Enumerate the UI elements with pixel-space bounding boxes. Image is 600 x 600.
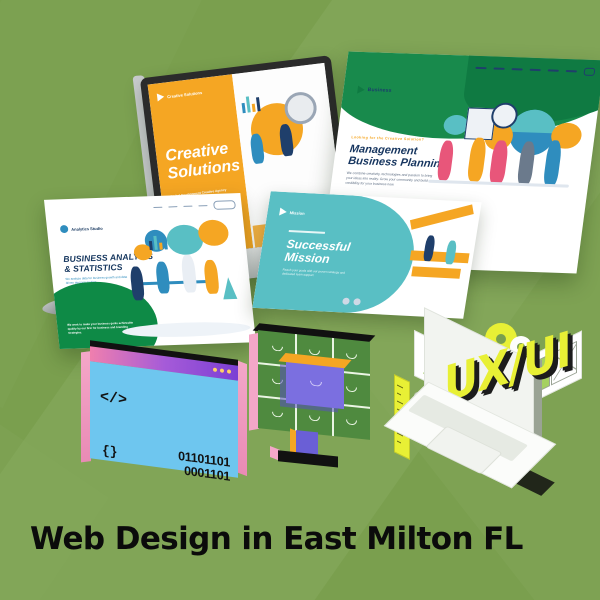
search-icon[interactable] xyxy=(583,68,595,76)
nav-item-services[interactable] xyxy=(511,68,522,70)
business-analysis-green-blob xyxy=(44,280,162,349)
mission-arrow-shape xyxy=(410,204,474,229)
nav-item-home[interactable] xyxy=(153,206,162,208)
drawer-handle[interactable] xyxy=(309,415,320,421)
business-analysis-screen[interactable]: Analytics Studio BUSINESS ANALYSIS & STA… xyxy=(44,193,256,349)
table-surface xyxy=(141,280,211,285)
logo-arrow-icon xyxy=(357,86,365,94)
mission-logo[interactable]: Mission xyxy=(279,208,305,217)
mission-step-bar xyxy=(410,250,470,263)
logo-mark-icon xyxy=(60,225,69,233)
creative-logo: Creative Solutions xyxy=(157,88,203,101)
mission-headline: Successful Mission xyxy=(284,238,352,266)
window-dot-3[interactable] xyxy=(227,369,231,374)
nav-item-contact[interactable] xyxy=(566,70,577,72)
open-drawer[interactable] xyxy=(286,361,344,409)
management-logo-label: Business xyxy=(367,87,392,94)
mission-pagination-dots[interactable] xyxy=(342,298,361,306)
person-figure xyxy=(155,261,170,293)
nav-item-contact[interactable] xyxy=(198,205,207,207)
nav-item-services[interactable] xyxy=(183,205,192,207)
code-window[interactable]: </> {} 01101101 0001101 xyxy=(90,346,238,477)
bar-chart-icon xyxy=(148,235,167,250)
plant-icon xyxy=(221,277,237,299)
management-body: We combine creativity, technologies and … xyxy=(345,171,435,189)
dot-1[interactable] xyxy=(342,298,350,305)
management-logo[interactable]: Business xyxy=(357,86,392,95)
ux-ui-laptop[interactable]: UX/UI xyxy=(392,330,578,490)
creative-logo-label: Creative Solutions xyxy=(167,90,202,99)
code-window-right-edge xyxy=(237,360,247,476)
person-figure xyxy=(180,255,197,293)
management-eyebrow: Looking for the Creative Solution? xyxy=(351,135,424,142)
business-analysis-logo[interactable]: Analytics Studio xyxy=(60,224,103,233)
mission-logo-label: Mission xyxy=(289,210,305,216)
filing-cabinet[interactable] xyxy=(258,330,370,440)
code-window-body: </> {} 01101101 0001101 xyxy=(90,361,238,477)
poster-canvas: Creative Solutions Creative Solutions Di… xyxy=(0,0,600,600)
code-brace-icon: {} xyxy=(102,443,118,460)
successful-mission-screen[interactable]: Mission Successful Mission Reach your go… xyxy=(252,191,481,319)
management-headline: Management Business Planning xyxy=(347,143,449,170)
nav-item-home[interactable] xyxy=(475,67,486,69)
window-dot-1[interactable] xyxy=(213,367,217,372)
mission-step-bar xyxy=(411,266,461,278)
bar-chart-icon xyxy=(241,95,261,113)
drawer-handle[interactable] xyxy=(272,412,283,418)
window-dot-2[interactable] xyxy=(220,368,224,373)
page-title: Web Design in East Milton FL xyxy=(30,521,523,557)
drawer-handle[interactable] xyxy=(272,346,283,352)
nav-item-about[interactable] xyxy=(168,206,177,208)
code-tag-icon: </> xyxy=(100,389,127,410)
drawer-handle[interactable] xyxy=(346,386,357,392)
drawer-handle[interactable] xyxy=(272,379,283,385)
person-figure xyxy=(203,260,220,294)
window-controls[interactable] xyxy=(213,367,231,373)
nav-cta-button[interactable] xyxy=(213,200,236,210)
business-analysis-nav[interactable] xyxy=(153,200,236,212)
drawer-handle[interactable] xyxy=(346,419,357,425)
management-headline-2: Business Planning xyxy=(347,155,447,170)
logo-arrow-icon xyxy=(279,208,287,216)
nav-item-portfolio[interactable] xyxy=(530,69,541,71)
dot-2[interactable] xyxy=(353,298,361,305)
business-analysis-logo-label: Analytics Studio xyxy=(71,225,103,231)
nav-item-blog[interactable] xyxy=(548,69,559,71)
person-figure xyxy=(467,137,488,181)
nav-item-about[interactable] xyxy=(493,67,504,69)
open-drawer-handle[interactable] xyxy=(310,381,322,387)
